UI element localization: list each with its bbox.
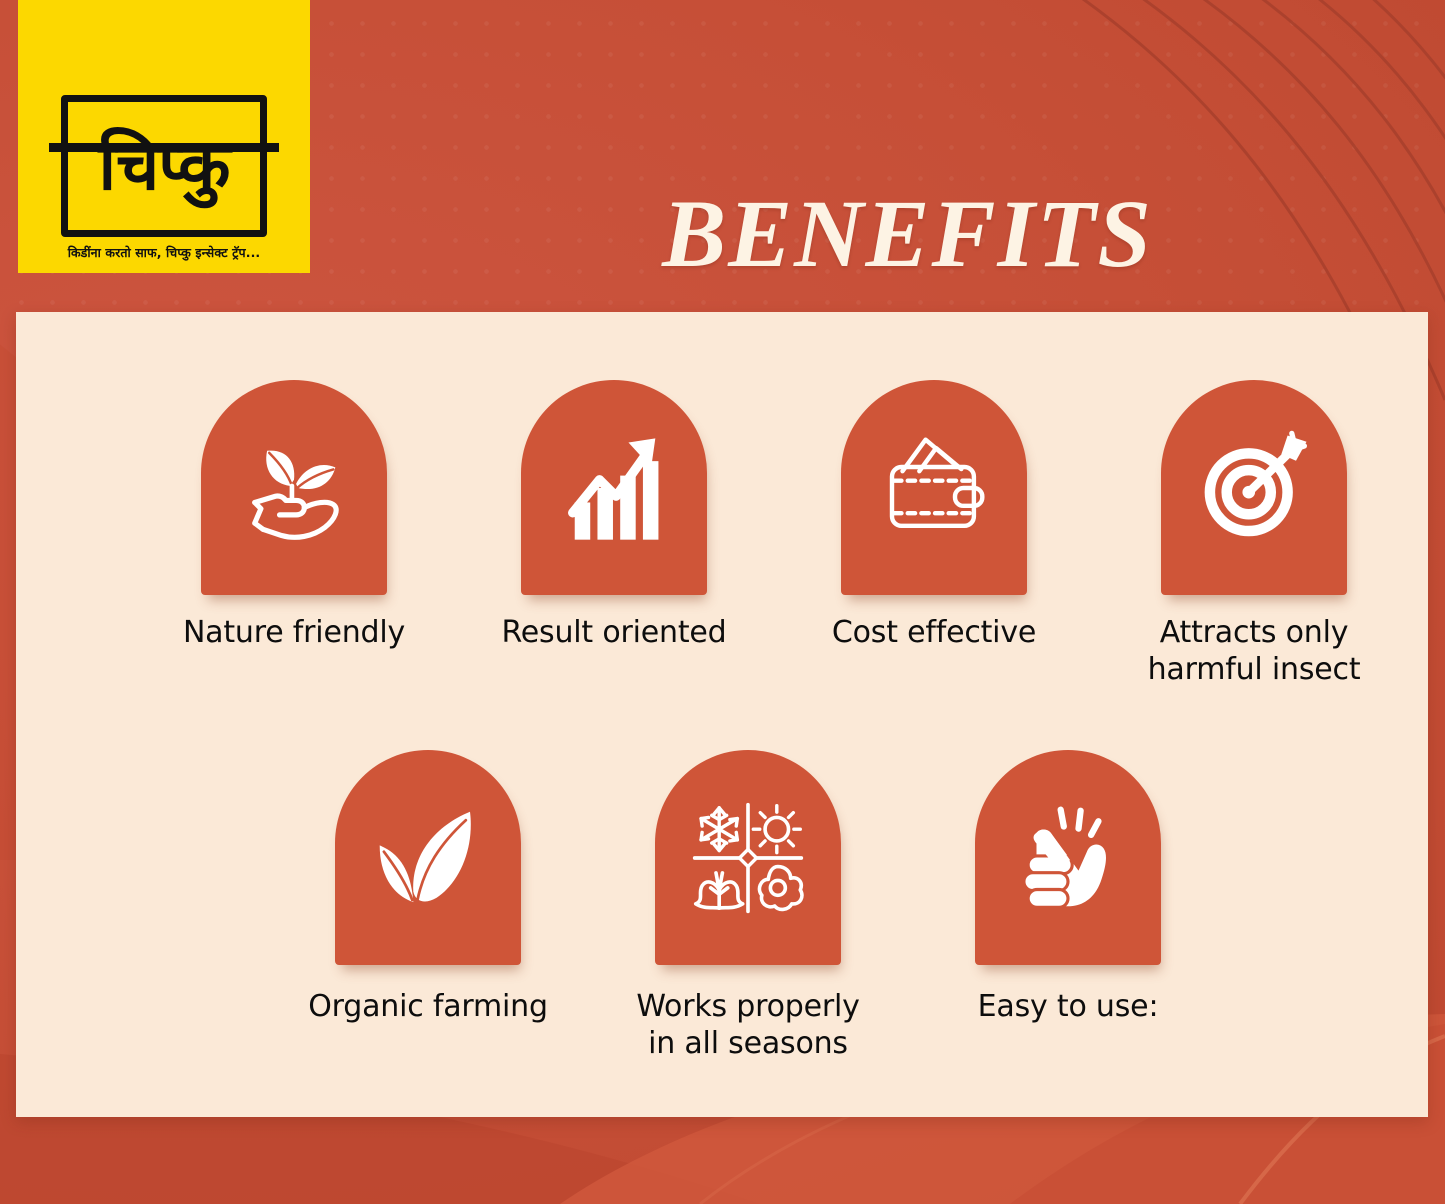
benefit-label: Works properly in all seasons: [636, 989, 859, 1062]
logo-tagline: किडींना करतो साफ, चिप्कु इन्सेक्ट ट्रॅप.…: [68, 244, 261, 261]
icon-arch-wrapper: [841, 380, 1027, 595]
benefit-result-oriented[interactable]: Result oriented: [454, 380, 774, 688]
benefits-row-2: Organic farming: [16, 750, 1428, 1062]
benefit-label: Organic farming: [308, 989, 548, 1026]
benefits-panel: Nature friendly Result oriented: [16, 312, 1428, 1117]
logo-frame: चिप्कु: [61, 95, 267, 237]
target-dart-icon: [1191, 425, 1317, 551]
benefit-works-all-seasons[interactable]: Works properly in all seasons: [588, 750, 908, 1062]
page-title: BENEFITS: [310, 186, 1445, 282]
icon-arch: [521, 380, 707, 595]
benefit-label: Cost effective: [832, 615, 1036, 652]
page-title-text: BENEFITS: [310, 186, 1445, 282]
benefit-label: Nature friendly: [183, 615, 405, 652]
benefit-label: Easy to use:: [978, 989, 1159, 1026]
icon-arch: [1161, 380, 1347, 595]
icon-arch-wrapper: [335, 750, 521, 965]
snapping-fingers-icon: [1005, 795, 1131, 921]
icon-arch-wrapper: [1161, 380, 1347, 595]
benefit-label: Attracts only harmful insect: [1148, 615, 1361, 688]
icon-arch: [975, 750, 1161, 965]
icon-arch: [201, 380, 387, 595]
benefit-cost-effective[interactable]: Cost effective: [774, 380, 1094, 688]
benefits-row-1: Nature friendly Result oriented: [16, 380, 1428, 688]
four-seasons-icon: [684, 794, 812, 922]
benefit-nature-friendly[interactable]: Nature friendly: [134, 380, 454, 688]
brand-logo: चिप्कु किडींना करतो साफ, चिप्कु इन्सेक्ट…: [18, 0, 310, 273]
benefit-organic-farming[interactable]: Organic farming: [268, 750, 588, 1062]
hand-holding-plant-icon: [232, 426, 356, 550]
logo-horizontal-bar: [49, 143, 279, 152]
icon-arch: [655, 750, 841, 965]
benefit-easy-to-use[interactable]: Easy to use:: [908, 750, 1228, 1062]
benefit-label: Result oriented: [502, 615, 727, 652]
wallet-icon: [871, 425, 997, 551]
icon-arch-wrapper: [655, 750, 841, 965]
icon-arch-wrapper: [521, 380, 707, 595]
growth-chart-arrow-icon: [552, 426, 676, 550]
icon-arch-wrapper: [201, 380, 387, 595]
two-leaves-icon: [365, 795, 491, 921]
icon-arch: [841, 380, 1027, 595]
icon-arch-wrapper: [975, 750, 1161, 965]
benefit-attracts-harmful-insect[interactable]: Attracts only harmful insect: [1094, 380, 1414, 688]
icon-arch: [335, 750, 521, 965]
